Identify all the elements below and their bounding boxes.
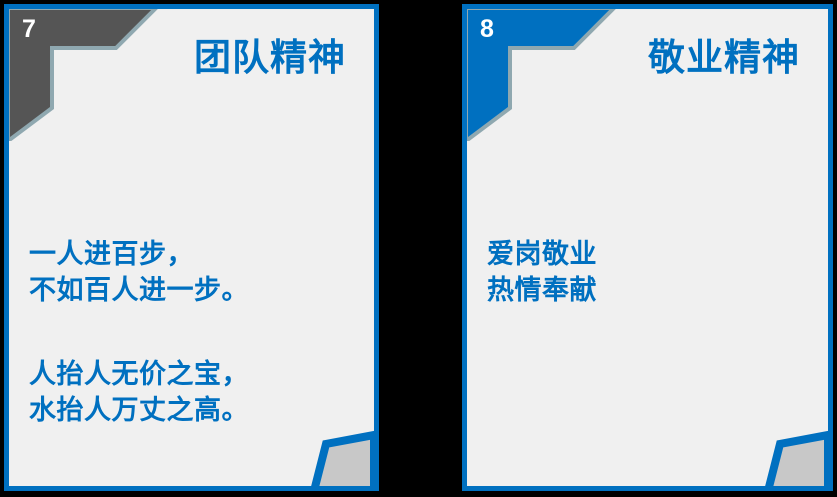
card-7-paragraph-2: 人抬人无价之宝， 水抬人万丈之高。 — [29, 357, 249, 428]
card-7[interactable]: 7 团队精神 一人进百步， 不如百人进一步。 人抬人无价之宝， 水抬人万丈之高。 — [4, 4, 379, 491]
card-title-8: 敬业精神 — [648, 39, 800, 78]
page-fold-8 — [727, 411, 833, 491]
page-fold-7 — [273, 411, 379, 491]
card-8-paragraph-1: 爱岗敬业 热情奉献 — [487, 237, 597, 308]
card-7-paragraph-1: 一人进百步， 不如百人进一步。 — [29, 237, 249, 308]
card-title-7: 团队精神 — [194, 39, 346, 78]
card-number-8: 8 — [480, 17, 494, 42]
card-number-7: 7 — [22, 17, 36, 42]
card-8[interactable]: 8 敬业精神 爱岗敬业 热情奉献 — [462, 4, 833, 491]
slide-canvas: 7 团队精神 一人进百步， 不如百人进一步。 人抬人无价之宝， 水抬人万丈之高。… — [0, 0, 837, 497]
